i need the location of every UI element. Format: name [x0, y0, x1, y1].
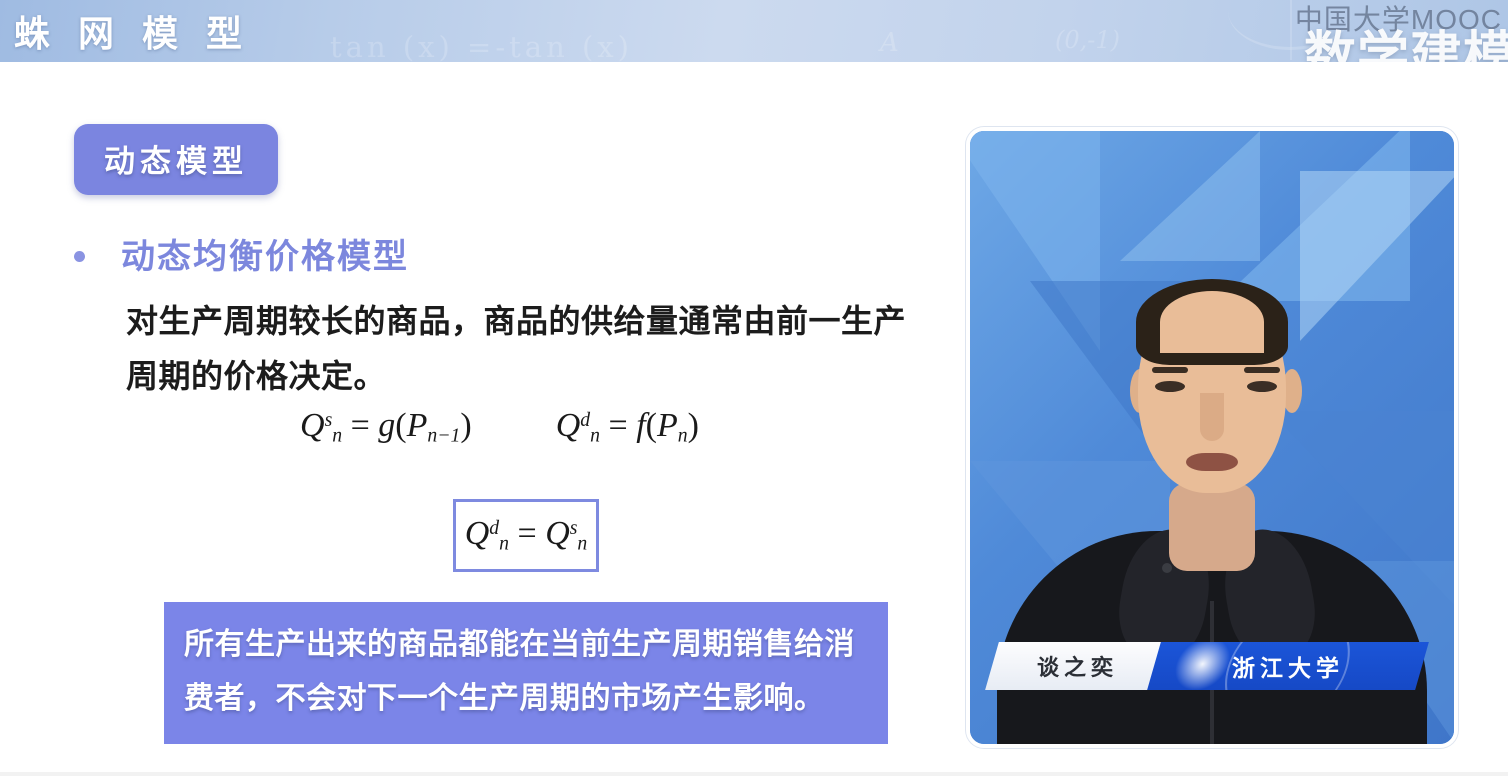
- presenter-forehead: [1160, 291, 1264, 353]
- presenter-video-panel[interactable]: 谈之奕 浙江大学: [966, 127, 1458, 748]
- boxed-lhs-q: Q: [465, 515, 490, 552]
- presenter-neck: [1169, 483, 1255, 571]
- bullet-heading: 动态均衡价格模型: [74, 229, 409, 278]
- boxed-lhs-sub: n: [499, 533, 509, 555]
- header-formula-2: A: [880, 28, 899, 58]
- header-formula-3: (0,-1): [1055, 26, 1120, 54]
- bottom-edge-strip: [0, 772, 1508, 776]
- formula-demand-fn: f: [636, 407, 645, 444]
- formula-demand-eq: =: [609, 407, 628, 444]
- presenter-organization: 浙江大学: [1232, 649, 1344, 683]
- slide-root: tan (x) =-tan (x) A (0,-1) 蛛 网 模 型 中国大学M…: [0, 0, 1508, 776]
- section-badge: 动态模型: [74, 124, 278, 195]
- boxed-rhs-q: Q: [545, 515, 570, 552]
- formula-supply-fn: g: [378, 407, 395, 444]
- banner-shine-effect: [1164, 642, 1241, 690]
- boxed-lhs-sup: d: [489, 517, 499, 539]
- lower-third-banner: 谈之奕 浙江大学: [992, 642, 1422, 690]
- formula-demand-arg-sub: n: [678, 425, 688, 447]
- slide-content: 动态模型 动态均衡价格模型 对生产周期较长的商品，商品的供给量通常由前一生产周期…: [0, 62, 960, 776]
- presenter-name: 谈之奕: [1037, 650, 1118, 682]
- page-title: 蛛 网 模 型: [14, 5, 251, 57]
- formula-supply-q: Q: [300, 407, 325, 444]
- callout-box: 所有生产出来的商品都能在当前生产周期销售给消费者，不会对下一个生产周期的市场产生…: [164, 602, 888, 744]
- section-badge-label: 动态模型: [104, 136, 248, 181]
- presenter-eyebrow-right: [1244, 367, 1280, 373]
- formula-demand-arg: P: [657, 407, 678, 444]
- formula-supply: Qsn = g(Pn−1): [300, 407, 472, 448]
- formula-supply-sub: n: [332, 425, 342, 447]
- formula-demand-q: Q: [556, 407, 581, 444]
- bullet-dot-icon: [74, 251, 85, 262]
- formula-supply-arg: P: [407, 407, 428, 444]
- callout-text: 所有生产出来的商品都能在当前生产周期销售给消费者，不会对下一个生产周期的市场产生…: [184, 618, 868, 726]
- presenter-eye-left: [1155, 381, 1185, 392]
- presenter-eyebrow-left: [1152, 367, 1188, 373]
- formula-supply-paren-close: ): [460, 407, 471, 444]
- formula-demand-sub: n: [590, 425, 600, 447]
- boxed-rhs-sub: n: [577, 533, 587, 555]
- formula-row: Qsn = g(Pn−1) Qdn = f(Pn): [300, 407, 699, 448]
- formula-supply-paren-open: (: [395, 407, 406, 444]
- body-paragraph: 对生产周期较长的商品，商品的供给量通常由前一生产周期的价格决定。: [126, 294, 916, 404]
- formula-supply-eq: =: [351, 407, 370, 444]
- presenter-name-plate: 谈之奕: [985, 642, 1171, 690]
- bullet-heading-label: 动态均衡价格模型: [121, 229, 409, 278]
- header-axis-decoration: [1290, 0, 1292, 60]
- boxed-equilibrium-formula: Qdn = Qsn: [453, 499, 599, 572]
- lapel-microphone-icon: [1162, 563, 1172, 573]
- formula-demand-paren-close: ): [688, 407, 699, 444]
- formula-supply-arg-sub: n−1: [427, 425, 460, 447]
- header-formula-1: tan (x) =-tan (x): [330, 30, 633, 62]
- presenter-organization-plate: 浙江大学: [1147, 642, 1429, 690]
- presenter-eye-right: [1247, 381, 1277, 392]
- formula-demand-paren-open: (: [646, 407, 657, 444]
- presenter-nose: [1200, 393, 1224, 441]
- formula-demand-sup: d: [580, 409, 590, 431]
- presenter-mouth: [1186, 453, 1238, 471]
- course-brand-logo: 数学建模: [1304, 14, 1508, 62]
- formula-demand: Qdn = f(Pn): [556, 407, 699, 448]
- slide-header: tan (x) =-tan (x) A (0,-1) 蛛 网 模 型 中国大学M…: [0, 0, 1508, 62]
- boxed-eq: =: [518, 515, 537, 552]
